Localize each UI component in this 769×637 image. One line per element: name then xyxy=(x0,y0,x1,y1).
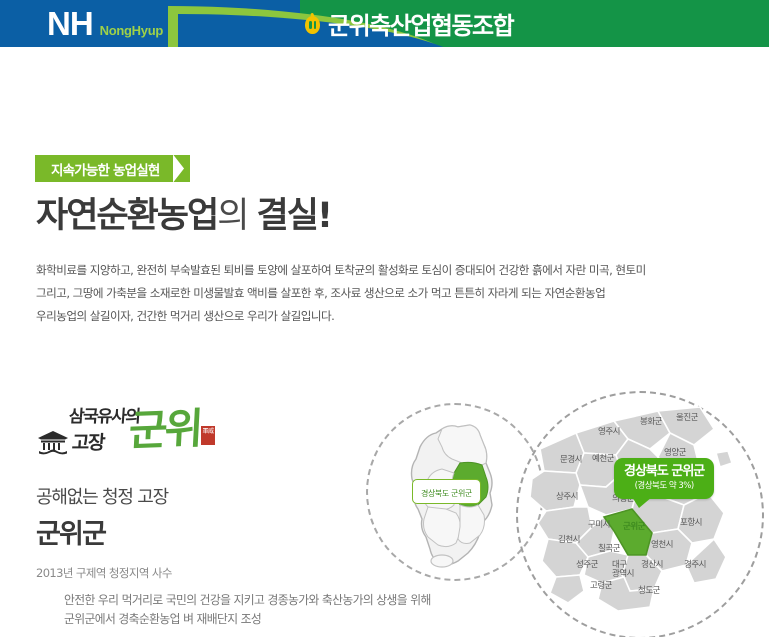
district-label: 경주시 xyxy=(684,558,706,570)
paragraph-line: 화학비료를 지양하고, 완전히 부숙발효된 퇴비를 토양에 살포하여 토착균의 … xyxy=(36,259,696,282)
district-label: 군위군 xyxy=(623,520,645,532)
district-label: 구미시 xyxy=(588,518,610,530)
tag-banner-body: 지속가능한 농업실현 xyxy=(35,155,173,182)
cooperative-name: 군위축산업협동조합 xyxy=(328,6,513,41)
district-label: 영양군 xyxy=(664,446,686,458)
gunwi-callout: 경상북도 군위군 (경상북도 약 3%) xyxy=(614,458,714,499)
seedling-bulb-icon xyxy=(305,13,320,34)
section-tag-banner: 지속가능한 농업실현 xyxy=(35,155,190,182)
nh-logo-wordmark: NongHyup xyxy=(100,23,163,38)
page-title: 자연순환농업의 결실! xyxy=(36,195,331,237)
page-root: NH NongHyup 군위축산업협동조합 지속가능한 농업실현 자연순환농업의… xyxy=(0,0,769,637)
nh-logo-mark: NH xyxy=(47,6,93,42)
district-label: 고령군 xyxy=(590,579,612,591)
tag-banner-label: 지속가능한 농업실현 xyxy=(51,159,159,179)
callout-title: 경상북도 군위군 xyxy=(624,464,704,479)
nh-logo[interactable]: NH NongHyup xyxy=(47,6,163,42)
brand-logo-seal-stamp: 軍威 xyxy=(201,426,215,445)
district-label: 칠곡군 xyxy=(598,542,620,554)
headline-particle: 의 xyxy=(217,196,247,236)
gunwi-brand-logo: 삼국유사의 고장 군위 軍威 xyxy=(33,402,213,460)
callout-pointer-icon xyxy=(632,497,652,508)
pavilion-icon xyxy=(36,429,70,455)
district-label: 성주군 xyxy=(576,558,598,570)
brand-logo-main-text: 군위 xyxy=(128,405,202,455)
korea-map-label-text: 경상북도 군위군 xyxy=(421,489,472,498)
program-description: 안전한 우리 먹거리로 국민의 건강을 지키고 경종농가와 축산농가의 상생을 … xyxy=(64,591,431,629)
headline-part-2: 결실! xyxy=(257,196,331,236)
district-label: 문경시 xyxy=(560,453,582,465)
district-label: 경산시 xyxy=(641,558,663,570)
description-line: 군위군에서 경축순환농업 벼 재배단지 조성 xyxy=(64,610,431,629)
region-map-circle: 영주시봉화군울진군영양군문경시예천군안동시상주시의성군구미시군위군포항시김천시칠… xyxy=(516,391,764,637)
paragraph-line: 그리고, 그땅에 가축분을 소재로한 미생물발효 액비를 살포한 후, 조사료 … xyxy=(36,282,696,305)
district-label: 영천시 xyxy=(651,538,673,550)
intro-paragraph: 화학비료를 지양하고, 완전히 부숙발효된 퇴비를 토양에 살포하여 토착균의 … xyxy=(36,259,696,328)
description-line: 안전한 우리 먹거리로 국민의 건강을 지키고 경종농가와 축산농가의 상생을 … xyxy=(64,591,431,610)
tag-banner-chevron-icon xyxy=(173,155,190,182)
page-content: 지속가능한 농업실현 자연순환농업의 결실! 화학비료를 지양하고, 완전히 부… xyxy=(0,47,769,637)
korea-map-label: 경상북도 군위군 xyxy=(412,479,481,504)
site-header: NH NongHyup 군위축산업협동조합 xyxy=(0,0,769,47)
district-label: 김천시 xyxy=(558,533,580,545)
district-label: 상주시 xyxy=(556,490,578,502)
achievement-note: 2013년 구제역 청정지역 사수 xyxy=(36,565,172,581)
gyeongbuk-district-map xyxy=(518,393,762,637)
district-label: 봉화군 xyxy=(640,415,662,427)
brand-logo-mid-text: 고장 xyxy=(71,428,105,455)
headline-part-1: 자연순환농업 xyxy=(36,196,217,236)
district-label: 광역시 xyxy=(612,567,634,579)
paragraph-line: 우리농업의 살길이자, 건간한 먹거리 생산으로 우리가 살길입니다. xyxy=(36,305,696,328)
cooperative-title: 군위축산업협동조합 xyxy=(305,0,513,47)
region-name-heading: 군위군 xyxy=(36,512,105,551)
district-label: 예천군 xyxy=(592,452,614,464)
callout-subtitle: (경상북도 약 3%) xyxy=(624,480,704,492)
district-label: 울진군 xyxy=(676,411,698,423)
district-label: 영주시 xyxy=(598,425,620,437)
district-label: 청도군 xyxy=(638,584,660,596)
region-tagline: 공해없는 청정 고장 xyxy=(36,483,168,509)
district-label: 포항시 xyxy=(680,516,702,528)
